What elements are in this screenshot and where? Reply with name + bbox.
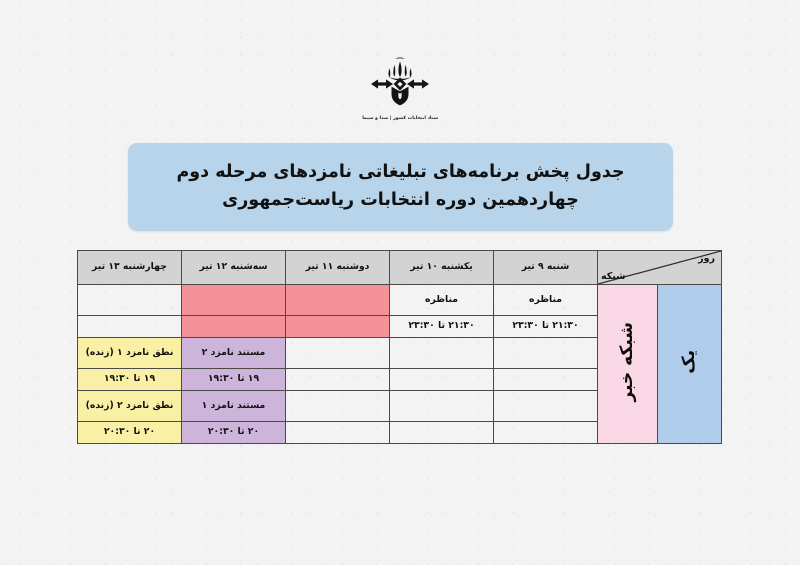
corner-day-label: روز [698, 253, 715, 265]
schedule-cell [286, 391, 390, 422]
logo-caption: ستاد انتخابات کشور | صدا و سیما [362, 116, 438, 121]
day-header-monday: دوشنبه ۱۱ تیر [286, 251, 390, 285]
table-body: یک شبکه خبر مناظره مناظره ۲۱:۳۰ تا ۲۳:۳۰… [78, 285, 722, 444]
table-header-row: روز شبکه شنبه ۹ تیر یکشنبه ۱۰ تیر دوشنبه… [78, 251, 722, 285]
schedule-cell: مناظره [390, 285, 494, 316]
table-header: روز شبکه شنبه ۹ تیر یکشنبه ۱۰ تیر دوشنبه… [78, 251, 722, 285]
schedule-time-cell [286, 316, 390, 338]
day-header-wednesday: چهارشنبه ۱۳ تیر [78, 251, 182, 285]
network-name-yek: یک [678, 350, 700, 374]
schedule-time-cell [78, 316, 182, 338]
schedule-table-wrapper: روز شبکه شنبه ۹ تیر یکشنبه ۱۰ تیر دوشنبه… [78, 250, 722, 444]
page-title-line-1: جدول پخش برنامه‌های تبلیغاتی نامزدهای مر… [176, 162, 624, 184]
schedule-cell [494, 391, 598, 422]
schedule-cell: مناظره [494, 285, 598, 316]
schedule-cell: مستند نامزد ۱ [182, 391, 286, 422]
schedule-time-cell: ۲۰ تا ۲۰:۳۰ [182, 422, 286, 444]
schedule-time-cell: ۲۱:۳۰ تا ۲۳:۳۰ [390, 316, 494, 338]
title-banner: جدول پخش برنامه‌های تبلیغاتی نامزدهای مر… [128, 143, 673, 231]
day-header-sunday: یکشنبه ۱۰ تیر [390, 251, 494, 285]
day-header-tuesday: سه‌شنبه ۱۲ تیر [182, 251, 286, 285]
iran-election-headquarters-emblem-icon [365, 52, 435, 114]
broadcast-schedule-table: روز شبکه شنبه ۹ تیر یکشنبه ۱۰ تیر دوشنبه… [77, 250, 722, 444]
schedule-cell [494, 338, 598, 369]
corner-header-cell: روز شبکه [598, 251, 722, 285]
table-row: یک شبکه خبر مناظره مناظره [78, 285, 722, 316]
schedule-cell [390, 391, 494, 422]
schedule-cell: نطق نامزد ۱ (زنده) [78, 338, 182, 369]
schedule-cell [286, 285, 390, 316]
page-title-line-2: چهاردهمین دوره انتخابات ریاست‌جمهوری [222, 190, 579, 212]
schedule-time-cell [494, 369, 598, 391]
network-cell-khabar: شبکه خبر [598, 285, 658, 444]
schedule-time-cell [390, 369, 494, 391]
schedule-time-cell: ۲۰ تا ۲۰:۳۰ [78, 422, 182, 444]
schedule-cell [286, 338, 390, 369]
schedule-time-cell [494, 422, 598, 444]
schedule-cell: نطق نامزد ۲ (زنده) [78, 391, 182, 422]
schedule-cell [182, 285, 286, 316]
schedule-time-cell: ۱۹ تا ۱۹:۳۰ [78, 369, 182, 391]
schedule-cell: مستند نامزد ۲ [182, 338, 286, 369]
schedule-cell [390, 338, 494, 369]
document-root: ستاد انتخابات کشور | صدا و سیما جدول پخش… [0, 0, 800, 565]
schedule-time-cell: ۱۹ تا ۱۹:۳۰ [182, 369, 286, 391]
day-header-saturday: شنبه ۹ تیر [494, 251, 598, 285]
schedule-time-cell [286, 369, 390, 391]
schedule-time-cell [182, 316, 286, 338]
schedule-time-cell: ۲۱:۳۰ تا ۲۳:۳۰ [494, 316, 598, 338]
schedule-time-cell [286, 422, 390, 444]
organization-logo: ستاد انتخابات کشور | صدا و سیما [0, 52, 800, 121]
network-name-khabar: شبکه خبر [616, 322, 638, 402]
schedule-cell [78, 285, 182, 316]
schedule-time-cell [390, 422, 494, 444]
corner-network-label: شبکه [601, 271, 626, 283]
network-cell-yek: یک [658, 285, 722, 444]
